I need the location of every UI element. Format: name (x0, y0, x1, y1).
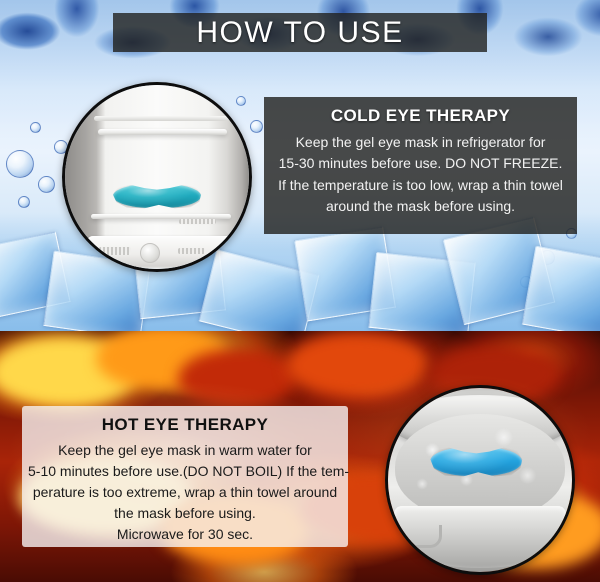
page-title: HOW TO USE (196, 18, 403, 48)
pot-interior (388, 388, 572, 572)
hot-therapy-line: Microwave for 30 sec. (28, 524, 342, 545)
cold-therapy-section: HOW TO USE COLD EYE THERAPY Keep the gel… (0, 0, 600, 331)
hot-therapy-line: the mask before using. (28, 503, 342, 524)
gel-eye-mask-cold (113, 184, 201, 208)
pot-handle (395, 525, 441, 548)
fridge-drawer (87, 236, 234, 267)
fridge-vent (178, 248, 204, 254)
cold-therapy-line: 15-30 minutes before use. DO NOT FREEZE. (272, 153, 569, 174)
cold-therapy-heading: COLD EYE THERAPY (272, 106, 569, 126)
hot-therapy-line: 5-10 minutes before use.(DO NOT BOIL) If… (28, 461, 342, 482)
fridge-vent (179, 219, 216, 224)
water-bubble-icon (30, 122, 41, 133)
fridge-vent (99, 247, 131, 255)
fridge-knob (140, 243, 160, 263)
fridge-shelf-bar (94, 116, 230, 121)
refrigerator-photo-circle (62, 82, 252, 272)
cold-therapy-line: around the mask before using. (272, 196, 569, 217)
water-bubble-icon (6, 150, 34, 178)
hot-therapy-panel: HOT EYE THERAPY Keep the gel eye mask in… (22, 406, 348, 547)
hot-therapy-line: perature is too extreme, wrap a thin tow… (28, 482, 342, 503)
cold-therapy-line: Keep the gel eye mask in refrigerator fo… (272, 132, 569, 153)
ice-cube (522, 246, 600, 331)
hot-therapy-line: Keep the gel eye mask in warm water for (28, 440, 342, 461)
water-bubble-icon (38, 176, 55, 193)
water-bubble-icon (18, 196, 30, 208)
water-bubble-icon (250, 120, 263, 133)
page-title-banner: HOW TO USE (113, 13, 487, 52)
hot-therapy-section: HOT EYE THERAPY Keep the gel eye mask in… (0, 331, 600, 582)
cold-therapy-line: If the temperature is too low, wrap a th… (272, 175, 569, 196)
fridge-shelf (91, 214, 231, 219)
pot-photo-circle (385, 385, 575, 575)
hot-therapy-heading: HOT EYE THERAPY (28, 415, 342, 435)
refrigerator-interior (65, 85, 249, 269)
fridge-shelf (98, 129, 227, 135)
cold-therapy-panel: COLD EYE THERAPY Keep the gel eye mask i… (264, 97, 577, 234)
how-to-use-infographic: HOW TO USE COLD EYE THERAPY Keep the gel… (0, 0, 600, 582)
